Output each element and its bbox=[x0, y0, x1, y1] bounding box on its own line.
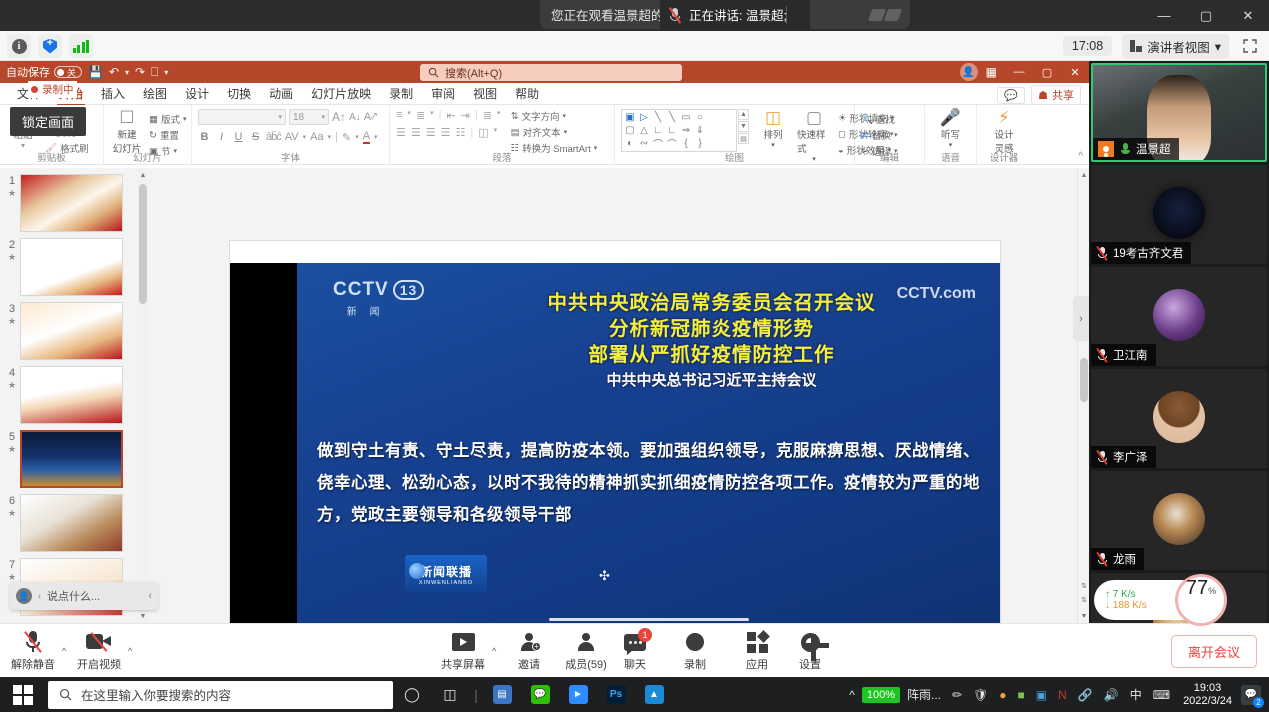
participant-tile[interactable]: 李广泽 bbox=[1091, 369, 1267, 468]
slide-thumb-item[interactable]: 6★ bbox=[0, 488, 147, 552]
shape-ellipse-icon[interactable]: ○ bbox=[693, 111, 707, 124]
chevron-down-icon: ▾ bbox=[1215, 39, 1221, 54]
account-avatar[interactable]: 👤 bbox=[960, 63, 978, 81]
scroll-up-icon[interactable]: ▲ bbox=[138, 168, 148, 182]
tab-transitions[interactable]: 切换 bbox=[218, 83, 260, 104]
editing-group-label: 编辑 bbox=[855, 150, 924, 164]
shape-arc-icon[interactable]: ⌒ bbox=[651, 137, 665, 150]
character-spacing-button[interactable]: AV bbox=[285, 131, 299, 143]
zoom-bottom-toolbar: 解除静音 ^ 开启视频 ^ 共享屏幕 ^ + 邀请 成员(59) 1 聊天 bbox=[0, 623, 1269, 677]
participants-icon bbox=[577, 633, 595, 651]
panel-flyout-toggle[interactable]: › bbox=[1073, 296, 1089, 341]
shape-lbrace-icon[interactable]: { bbox=[679, 137, 693, 150]
viewing-banner-text: 您正在观看温景超的屏 bbox=[540, 5, 660, 24]
scroll-down-icon[interactable]: ▼ bbox=[138, 609, 148, 623]
participant-tile[interactable]: 卫江南 bbox=[1091, 267, 1267, 366]
designer-group-label: 设计器 bbox=[977, 150, 1031, 164]
cpu-usage-unit: % bbox=[1208, 586, 1216, 596]
participant-name: 龙雨 bbox=[1113, 551, 1136, 567]
slide-thumb-item[interactable]: 2★ bbox=[0, 232, 147, 296]
participant-nametag: 19考古齐文君 bbox=[1091, 242, 1191, 264]
tab-review[interactable]: 审阅 bbox=[422, 83, 464, 104]
video-options-chevron-icon[interactable]: ^ bbox=[128, 646, 132, 656]
reset-label: 重置 bbox=[160, 128, 179, 142]
avatar bbox=[1153, 289, 1205, 341]
news-body-text: 做到守土有责、守土尽责，提高防疫本领。要加强组织领导，克服麻痹思想、厌战情绪、侥… bbox=[317, 435, 982, 531]
taskbar-app-photoshop[interactable]: Ps bbox=[597, 677, 635, 712]
slides-group-label: 幻灯片 bbox=[104, 150, 191, 164]
slide-thumbnail-4[interactable] bbox=[20, 366, 123, 424]
shape-line-icon[interactable]: ╲ bbox=[651, 111, 665, 124]
ribbon-group-paragraph: ≡▾ ≣▾ | ⇤ ⇥ | ≣▾ ☰ ☰ ☰ ☰ bbox=[390, 105, 615, 165]
columns-button[interactable]: ◫ bbox=[478, 126, 488, 139]
avatar bbox=[1153, 187, 1205, 239]
view-mode-label: 演讲者视图 bbox=[1147, 37, 1210, 56]
font-name-input[interactable]: ▾ bbox=[198, 109, 286, 125]
tray-app3-icon[interactable]: ▣ bbox=[1032, 688, 1051, 702]
grow-font-icon[interactable]: A↑ bbox=[332, 110, 346, 124]
start-video-button[interactable]: 开启视频 bbox=[70, 630, 128, 672]
viewing-banner: 您正在观看温景超的屏 正在讲话: 温景超; bbox=[540, 0, 910, 29]
windows-taskbar: 在这里输入你要搜索的内容 ◯ ◫ | ▤ 💬 ► Ps ▲ ^ 100% 阵雨.… bbox=[0, 677, 1269, 712]
slide-thumbnail-3[interactable] bbox=[20, 302, 123, 360]
tab-view[interactable]: 视图 bbox=[464, 83, 506, 104]
find-button[interactable]: 🔍 查找 bbox=[861, 112, 898, 126]
taskbar-search-placeholder: 在这里输入你要搜索的内容 bbox=[81, 685, 231, 704]
align-text-button[interactable]: ▤ 对齐文本▾ bbox=[511, 125, 598, 139]
mic-muted-icon bbox=[1096, 246, 1108, 260]
shrink-font-icon[interactable]: A↓ bbox=[349, 112, 361, 123]
tray-volume-icon[interactable]: 🔊 bbox=[1100, 688, 1123, 702]
clock-time: 19:03 bbox=[1183, 682, 1232, 695]
font-size-input[interactable]: 18▾ bbox=[289, 109, 329, 125]
tab-insert[interactable]: 插入 bbox=[92, 83, 134, 104]
reset-icon: ↻ bbox=[149, 130, 157, 141]
mic-muted-icon bbox=[668, 7, 682, 23]
ribbon: 📋 粘贴 ▾ ✂ 剪切 ❐ 复制 � bbox=[0, 105, 1089, 165]
slide-number: 3 bbox=[9, 303, 15, 315]
mouse-cursor-icon: ✣ bbox=[599, 568, 610, 584]
zigzag-icon bbox=[870, 9, 900, 21]
network-quality-button[interactable] bbox=[69, 34, 93, 58]
leave-meeting-button[interactable]: 离开会议 bbox=[1171, 635, 1257, 668]
participant-tile[interactable]: 龙雨 bbox=[1091, 471, 1267, 570]
collapse-icon[interactable]: ‹ bbox=[148, 590, 152, 602]
search-icon: 🔍 bbox=[861, 114, 873, 125]
increase-indent-button[interactable]: ⇥ bbox=[461, 109, 470, 122]
chat-button[interactable]: 1 聊天 bbox=[606, 630, 664, 672]
taskbar-app-wechat[interactable]: 💬 bbox=[521, 677, 559, 712]
new-slide-icon: ☐ bbox=[119, 109, 134, 127]
meeting-info-button[interactable]: i bbox=[7, 34, 31, 58]
ribbon-group-voice: 🎤 听写 ▾ 语音 bbox=[925, 105, 977, 165]
tray-pen-icon[interactable]: ✏ bbox=[948, 688, 966, 702]
clipboard-group-label: 剪贴板 bbox=[0, 150, 103, 164]
slide-number: 1 bbox=[9, 175, 15, 187]
current-slide[interactable]: CCTV 13 新 闻 CCTV.com 中共中央政治局常务委员会召开会议 分析… bbox=[230, 241, 1000, 675]
text-direction-label: 文字方向 bbox=[522, 109, 560, 123]
signal-bars-icon bbox=[73, 40, 90, 53]
arrange-button[interactable]: ◫ 排列 ▾ bbox=[756, 109, 790, 149]
text-direction-icon: ⇅ bbox=[511, 111, 519, 122]
participants-label: 成员(59) bbox=[565, 656, 607, 672]
globe-icon bbox=[409, 563, 425, 579]
fullscreen-icon bbox=[1243, 39, 1257, 53]
ribbon-tabs: 文件 开始 插入 绘图 设计 切换 动画 幻灯片放映 录制 审阅 视图 帮助 💬… bbox=[0, 83, 1089, 105]
recording-label: 录制中 bbox=[42, 82, 74, 97]
decrease-indent-button[interactable]: ⇤ bbox=[447, 109, 456, 122]
clear-formatting-icon[interactable]: A⤤ bbox=[364, 111, 378, 124]
participant-name: 卫江南 bbox=[1113, 347, 1148, 363]
replace-label: 替换 bbox=[872, 128, 891, 142]
thumbnail-scrollbar[interactable]: ▲ ▼ bbox=[138, 168, 148, 623]
slide-top-margin bbox=[230, 241, 1000, 263]
replace-icon: ⇄ bbox=[861, 130, 869, 141]
ppt-close-button[interactable]: ✕ bbox=[1061, 61, 1089, 83]
record-dot-icon bbox=[31, 86, 38, 93]
shapes-scroll-up-icon[interactable]: ▲ bbox=[738, 109, 749, 120]
speaking-label: 正在讲话: 温景超; bbox=[689, 5, 787, 24]
shape-curve-icon[interactable]: ∾ bbox=[637, 137, 651, 150]
powerpoint-window: 自动保存 关 💾 ↶ ▾ ↷ ⎕ ▾ 党员会 • 已保存到这台电脑 ▾ bbox=[0, 61, 1089, 623]
share-screen-icon bbox=[452, 633, 475, 651]
participant-nametag: 龙雨 bbox=[1091, 548, 1144, 570]
shape-arc2-icon[interactable]: ⌒ bbox=[665, 137, 679, 150]
mic-muted-icon bbox=[1096, 348, 1108, 362]
encryption-button[interactable] bbox=[38, 34, 62, 58]
tab-design[interactable]: 设计 bbox=[176, 83, 218, 104]
xinwenlianbo-watermark: 新闻联播 XINWENLIANBO bbox=[405, 555, 487, 593]
drawing-group-label: 绘图 bbox=[615, 150, 854, 164]
avatar-icon: 👤 bbox=[16, 588, 32, 604]
meeting-time: 17:08 bbox=[1063, 36, 1112, 56]
text-shadow-button[interactable]: āb̄c̄ bbox=[266, 131, 281, 143]
weather-widget[interactable]: 阵雨... bbox=[903, 686, 945, 703]
justify-button[interactable]: ☰ bbox=[441, 126, 451, 139]
screen-root: 您正在观看温景超的屏 正在讲话: 温景超; — ▢ ✕ i bbox=[0, 0, 1269, 712]
lightning-idea-icon: ⚡ bbox=[998, 109, 1010, 127]
say-something-input[interactable]: 说点什么... bbox=[47, 588, 142, 604]
upload-value: 7 K/s bbox=[1113, 589, 1136, 600]
notification-count-badge: 2 bbox=[1253, 697, 1264, 708]
dictate-button[interactable]: 🎤 听写 ▾ bbox=[934, 109, 968, 149]
divider bbox=[786, 6, 787, 24]
gear-icon bbox=[801, 633, 820, 652]
shape-rightarrow-icon[interactable]: ⇒ bbox=[679, 124, 693, 137]
shape-arrowbox-icon[interactable]: ▷ bbox=[637, 111, 651, 124]
slide-number: 7 bbox=[9, 559, 15, 571]
apps-button[interactable]: 应用 bbox=[728, 630, 786, 672]
start-video-label: 开启视频 bbox=[77, 656, 121, 672]
cpu-usage-dial: 77 % bbox=[1175, 574, 1227, 626]
zoom-window-controls[interactable]: — ▢ ✕ bbox=[1143, 0, 1269, 31]
slide-thumbnail-2[interactable] bbox=[20, 238, 123, 296]
align-left-button[interactable]: ☰ bbox=[396, 126, 406, 139]
tray-app1-icon[interactable]: ● bbox=[995, 688, 1010, 702]
share-screen-label: 共享屏幕 bbox=[441, 656, 485, 672]
tray-keyboard-icon[interactable]: ⌨ bbox=[1149, 688, 1174, 702]
scrollbar-thumb[interactable] bbox=[139, 184, 147, 304]
microphone-icon: 🎤 bbox=[940, 109, 961, 127]
cctv-logo: CCTV 13 新 闻 bbox=[333, 279, 424, 318]
record-label: 录制 bbox=[684, 656, 706, 672]
collapse-ribbon-icon[interactable]: ^ bbox=[1078, 151, 1083, 162]
speaking-indicator: 正在讲话: 温景超; bbox=[660, 0, 810, 30]
cctv-channel-number: 13 bbox=[393, 280, 425, 300]
cpu-usage-value: 77 bbox=[1186, 577, 1208, 600]
info-icon: i bbox=[12, 39, 27, 54]
slide-edit-area: CCTV 13 新 闻 CCTV.com 中共中央政治局常务委员会召开会议 分析… bbox=[148, 168, 1089, 623]
align-text-label: 对齐文本 bbox=[523, 125, 561, 139]
align-right-button[interactable]: ☰ bbox=[426, 126, 436, 139]
paste-chevron-icon[interactable]: ▾ bbox=[21, 141, 25, 150]
chat-label: 聊天 bbox=[624, 656, 646, 672]
ppt-restore-button[interactable]: ▢ bbox=[1033, 61, 1061, 83]
taskbar-app-media[interactable]: ▲ bbox=[635, 677, 673, 712]
italic-button[interactable]: I bbox=[215, 131, 228, 143]
taskbar-search-box[interactable]: 在这里输入你要搜索的内容 bbox=[48, 681, 393, 709]
unmute-button[interactable]: 解除静音 bbox=[4, 630, 62, 672]
new-slide-label-1: 新建 bbox=[117, 127, 136, 141]
windows-logo-icon bbox=[13, 685, 33, 705]
find-label: 查找 bbox=[876, 112, 895, 126]
shape-downarrow-icon[interactable]: ⇓ bbox=[693, 124, 707, 137]
ribbon-right-actions: 💬 ☗ 共享 bbox=[997, 85, 1081, 105]
chat-unread-badge: 1 bbox=[638, 628, 652, 642]
layout-label: 版式 bbox=[161, 112, 180, 126]
settings-button[interactable]: 设置 bbox=[781, 630, 839, 672]
tab-help[interactable]: 帮助 bbox=[506, 83, 548, 104]
slide-thumb-item-selected[interactable]: 5★ bbox=[0, 424, 147, 488]
mic-muted-icon bbox=[1096, 450, 1108, 464]
slide-star-icon: ★ bbox=[4, 315, 20, 327]
align-text-icon: ▤ bbox=[511, 127, 520, 138]
ribbon-display-options-icon[interactable]: ▦ bbox=[986, 65, 997, 79]
layout-icon: ▦ bbox=[149, 114, 158, 125]
video-content: CCTV 13 新 闻 CCTV.com 中共中央政治局常务委员会召开会议 分析… bbox=[297, 263, 1000, 633]
invite-label: 邀请 bbox=[518, 656, 540, 672]
ribbon-group-designer: ⚡ 设计 灵感 设计器 bbox=[977, 105, 1031, 165]
chat-icon: 1 bbox=[624, 634, 646, 651]
align-center-button[interactable]: ☰ bbox=[411, 126, 421, 139]
design-ideas-label-1: 设计 bbox=[994, 127, 1013, 141]
underline-button[interactable]: U bbox=[232, 131, 245, 143]
share-button[interactable]: ☗ 共享 bbox=[1031, 85, 1081, 105]
audio-options-chevron-icon[interactable]: ^ bbox=[62, 646, 66, 656]
taskbar-clock[interactable]: 19:03 2022/3/24 bbox=[1177, 682, 1238, 708]
tab-animations[interactable]: 动画 bbox=[260, 83, 302, 104]
slide-number: 4 bbox=[9, 367, 15, 379]
distribute-button[interactable]: ☷ bbox=[456, 126, 466, 139]
ppt-minimize-button[interactable]: — bbox=[1005, 61, 1033, 83]
system-tray: ^ 100% 阵雨... ✏ 🛡 ● ■ ▣ N 🔗 🔊 中 ⌨ 19:03 2… bbox=[845, 677, 1269, 712]
slide-star-icon: ★ bbox=[4, 251, 20, 263]
text-highlight-button[interactable]: ✎ bbox=[342, 131, 351, 144]
cortana-icon[interactable]: ◯ bbox=[393, 677, 431, 712]
avatar bbox=[1153, 493, 1205, 545]
taskbar-app-calculator[interactable]: ▤ bbox=[483, 677, 521, 712]
shapes-scroll-down-icon[interactable]: ▼ bbox=[738, 121, 749, 132]
arrange-label: 排列 bbox=[763, 127, 782, 141]
design-ideas-button[interactable]: ⚡ 设计 灵感 bbox=[987, 109, 1021, 155]
mic-on-icon bbox=[1119, 142, 1131, 156]
camera-off-icon bbox=[86, 633, 112, 651]
slide-thumb-item[interactable]: 4★ bbox=[0, 360, 147, 424]
watermark-en: XINWENLIANBO bbox=[419, 580, 473, 586]
slide-thumbnail-panel[interactable]: 1★ 2★ 3★ 4★ 5★ 6★ bbox=[0, 168, 148, 623]
participant-nametag: 温景超 bbox=[1093, 138, 1179, 160]
text-direction-button[interactable]: ⇅ 文字方向▾ bbox=[511, 109, 598, 123]
headline-subtitle: 中共中央总书记习近平主持会议 bbox=[447, 370, 976, 392]
replace-button[interactable]: ⇄ 替换▾ bbox=[861, 128, 898, 142]
cctv-wordmark: CCTV bbox=[333, 279, 389, 301]
taskbar-divider: | bbox=[469, 677, 483, 712]
numbering-button[interactable]: ≣ bbox=[416, 109, 425, 122]
headline-line-1: 中共中央政治局常务委员会召开会议 bbox=[447, 290, 976, 316]
ribbon-group-font: ▾ 18▾ A↑ A↓ A⤤ B I U S āb̄c̄ bbox=[192, 105, 390, 165]
headline-line-3: 部署从严抓好疫情防控工作 bbox=[447, 342, 976, 368]
shapes-gallery[interactable]: ▣ ▷ ╲ ╲ ▭ ○ ▢ △ ∟ ∟ ⇒ ⇓ bbox=[621, 109, 737, 152]
participant-tile-active[interactable]: 温景超 bbox=[1091, 63, 1267, 162]
notification-center-button[interactable]: 💬 2 bbox=[1241, 685, 1261, 705]
view-mode-selector[interactable]: 演讲者视图 ▾ bbox=[1122, 34, 1229, 59]
search-icon bbox=[428, 67, 439, 78]
mic-muted-icon bbox=[24, 631, 42, 653]
reset-button[interactable]: ↻ 重置 bbox=[149, 128, 187, 142]
mic-muted-icon bbox=[1096, 552, 1108, 566]
chevron-left-icon[interactable]: ‹ bbox=[38, 591, 41, 601]
participant-nametag: 李广泽 bbox=[1091, 446, 1156, 468]
slide-thumbnail-6[interactable] bbox=[20, 494, 123, 552]
invite-button[interactable]: + 邀请 bbox=[500, 630, 558, 672]
dictate-label: 听写 bbox=[941, 127, 960, 141]
slide-number: 2 bbox=[9, 239, 15, 251]
download-value: 188 K/s bbox=[1113, 600, 1147, 611]
shape-line2-icon[interactable]: ╲ bbox=[665, 111, 679, 124]
embedded-video-frame[interactable]: CCTV 13 新 闻 CCTV.com 中共中央政治局常务委员会召开会议 分析… bbox=[230, 263, 1000, 633]
headline-line-2: 分析新冠肺炎疫情形势 bbox=[447, 316, 976, 342]
tray-app4-icon[interactable]: N bbox=[1054, 688, 1071, 702]
maximize-button[interactable]: ▢ bbox=[1185, 0, 1227, 31]
shape-triangle-icon[interactable]: △ bbox=[637, 124, 651, 137]
slide-star-icon: ★ bbox=[4, 379, 20, 391]
participant-name: 李广泽 bbox=[1113, 449, 1148, 465]
participant-name: 温景超 bbox=[1136, 141, 1171, 157]
record-button[interactable]: 录制 bbox=[666, 630, 724, 672]
participant-name: 19考古齐文君 bbox=[1113, 245, 1183, 261]
lock-screen-tooltip: 锁定画面 bbox=[10, 107, 86, 136]
layout-button[interactable]: ▦ 版式 ▾ bbox=[149, 112, 187, 126]
minimize-button[interactable]: — bbox=[1143, 0, 1185, 31]
ribbon-group-drawing: ▣ ▷ ╲ ╲ ▭ ○ ▢ △ ∟ ∟ ⇒ ⇓ bbox=[615, 105, 855, 165]
participant-video-strip[interactable]: 温景超 19考古齐文君 卫江南 李广泽 bbox=[1089, 61, 1269, 623]
font-size-value: 18 bbox=[293, 112, 304, 123]
speaker-avatar-icon bbox=[1098, 141, 1114, 157]
zoom-sub-toolbar: i 17:08 演讲者视图 ▾ bbox=[0, 31, 1269, 61]
ppt-search-placeholder: 搜索(Alt+Q) bbox=[445, 65, 502, 81]
bold-button[interactable]: B bbox=[198, 131, 211, 143]
strikethrough-button[interactable]: S bbox=[249, 131, 262, 143]
cctv-channel-name: 新 闻 bbox=[333, 303, 424, 318]
shape-roundrect-icon[interactable]: ▢ bbox=[623, 124, 637, 137]
task-view-icon[interactable]: ◫ bbox=[431, 677, 469, 712]
record-icon bbox=[686, 633, 704, 651]
apps-label: 应用 bbox=[746, 656, 768, 672]
voice-group-label: 语音 bbox=[925, 150, 976, 164]
share-label: 共享 bbox=[1052, 87, 1074, 103]
tab-draw[interactable]: 绘图 bbox=[134, 83, 176, 104]
slide-vertical-scrollbar[interactable]: ▲ ⇅ ⇅ ▼ bbox=[1077, 168, 1089, 623]
shape-outline-icon: ◻ bbox=[838, 129, 846, 140]
recording-indicator: 录制中 bbox=[28, 81, 77, 98]
scrollbar-thumb[interactable] bbox=[1080, 358, 1088, 402]
start-button[interactable] bbox=[0, 677, 46, 712]
slide-thumbnail-1[interactable] bbox=[20, 174, 123, 232]
layout-icon bbox=[1130, 40, 1142, 52]
tray-ime-icon[interactable]: 中 bbox=[1126, 686, 1146, 703]
shape-textbox-icon[interactable]: ▣ bbox=[623, 111, 637, 124]
font-group-label: 字体 bbox=[192, 150, 389, 164]
share-options-chevron-icon[interactable]: ^ bbox=[492, 646, 496, 656]
video-progress-bar[interactable] bbox=[549, 618, 749, 621]
slide-number: 6 bbox=[9, 495, 15, 507]
ppt-search-box[interactable]: 搜索(Alt+Q) bbox=[420, 64, 682, 81]
slide-star-icon: ★ bbox=[4, 443, 20, 455]
participant-tile[interactable]: 19考古齐文君 bbox=[1091, 165, 1267, 264]
shape-pie-icon[interactable]: ◐ bbox=[623, 137, 637, 150]
font-color-button[interactable]: A bbox=[363, 130, 370, 144]
zoom-level-badge[interactable]: 100% bbox=[862, 687, 900, 703]
share-icon: ☗ bbox=[1038, 89, 1048, 102]
tab-slideshow[interactable]: 幻灯片放映 bbox=[302, 83, 380, 104]
close-button[interactable]: ✕ bbox=[1227, 0, 1269, 31]
slide-star-icon: ★ bbox=[4, 507, 20, 519]
news-headline: 中共中央政治局常务委员会召开会议 分析新冠肺炎疫情形势 部署从严抓好疫情防控工作… bbox=[447, 290, 976, 392]
new-slide-button[interactable]: ☐ 新建 幻灯片 bbox=[110, 109, 144, 155]
tab-record[interactable]: 录制 bbox=[380, 83, 422, 104]
slide-thumbnail-5[interactable] bbox=[20, 430, 123, 488]
shape-fill-icon: ☀ bbox=[838, 113, 847, 124]
fullscreen-button[interactable] bbox=[1239, 35, 1261, 57]
tray-shield-icon[interactable]: 🛡 bbox=[969, 688, 992, 702]
clock-date: 2022/3/24 bbox=[1183, 695, 1232, 708]
share-screen-button[interactable]: 共享屏幕 bbox=[434, 630, 492, 672]
tray-expand-icon[interactable]: ^ bbox=[845, 688, 859, 702]
slide-number: 5 bbox=[9, 431, 15, 443]
comments-button[interactable]: 💬 bbox=[997, 87, 1025, 104]
say-something-bar[interactable]: 👤 ‹ 说点什么... ‹ bbox=[10, 582, 158, 610]
avatar bbox=[1153, 391, 1205, 443]
shape-rbrace-icon[interactable]: } bbox=[693, 137, 707, 150]
tray-app2-icon[interactable]: ■ bbox=[1014, 688, 1029, 702]
shape-rect-icon[interactable]: ▭ bbox=[679, 111, 693, 124]
bullets-button[interactable]: ≡ bbox=[396, 109, 402, 122]
tray-link-icon[interactable]: 🔗 bbox=[1074, 688, 1097, 702]
change-case-button[interactable]: Aa bbox=[310, 131, 323, 143]
invite-person-icon: + bbox=[520, 633, 538, 651]
arrange-icon: ◫ bbox=[765, 109, 781, 127]
slide-thumb-item[interactable]: 1★ bbox=[0, 168, 147, 232]
taskbar-app-zoom[interactable]: ► bbox=[559, 677, 597, 712]
shapes-expand-icon[interactable]: ▤ bbox=[738, 133, 749, 144]
paragraph-group-label: 段落 bbox=[390, 150, 614, 164]
participant-nametag: 卫江南 bbox=[1091, 344, 1156, 366]
line-spacing-button[interactable]: ≣ bbox=[483, 109, 492, 122]
ppt-title-bar: 自动保存 关 💾 ↶ ▾ ↷ ⎕ ▾ 党员会 • 已保存到这台电脑 ▾ bbox=[0, 61, 1089, 83]
shield-icon bbox=[43, 39, 57, 54]
slide-thumb-item[interactable]: 3★ bbox=[0, 296, 147, 360]
ribbon-group-slides: ☐ 新建 幻灯片 ▦ 版式 ▾ ↻ 重置 bbox=[104, 105, 192, 165]
